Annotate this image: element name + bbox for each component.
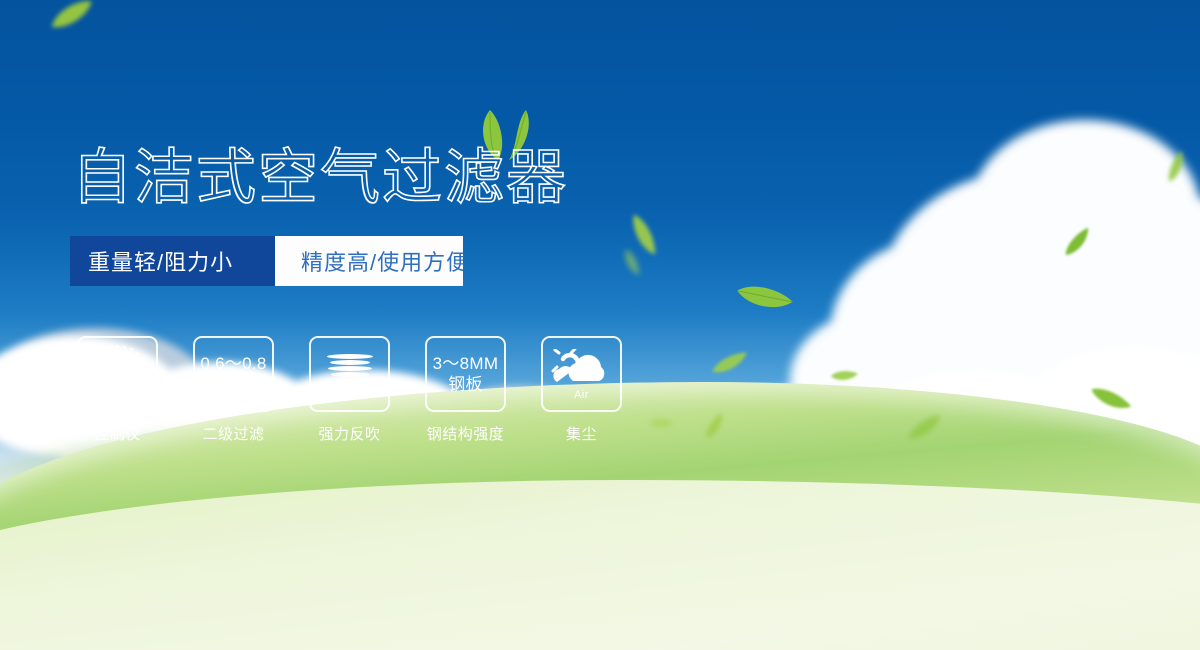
cloud-air-icon: Air	[551, 349, 613, 399]
product-banner: 自洁式空气过滤器 重量轻/阻力小 精度高/使用方便	[0, 0, 1200, 650]
feature-icon-box: 3～8MM 钢板	[425, 336, 506, 412]
feature-item-blowback[interactable]: 强力反吹	[302, 336, 397, 444]
steel-thickness-text: 3～8MM	[433, 353, 499, 374]
steel-material-text: 钢板	[448, 374, 483, 395]
feature-label: 二级过滤	[202, 423, 264, 444]
feature-icon-box: 0.6～0.8 MPA	[193, 336, 274, 412]
feature-icon-box	[309, 336, 390, 412]
gauge-label-off: OFF	[136, 389, 150, 402]
gauge-label-no: NO	[85, 367, 95, 378]
feature-icon-box: NO OFF	[77, 336, 158, 412]
feature-list: NO OFF 控制仪 0.6～0.8 MPA 二级过滤	[70, 336, 629, 444]
tagline-left: 重量轻/阻力小	[70, 236, 275, 286]
tagline-right: 精度高/使用方便	[275, 236, 463, 286]
banner-content: 自洁式空气过滤器 重量轻/阻力小 精度高/使用方便	[0, 0, 1200, 650]
feature-icon-box: Air	[541, 336, 622, 412]
pressure-unit-text: MPA	[215, 374, 251, 395]
tagline-left-text: 重量轻/阻力小	[88, 245, 233, 277]
page-title: 自洁式空气过滤器	[72, 143, 568, 213]
tagline-right-text: 精度高/使用方便	[301, 245, 463, 277]
tagline-badge: 重量轻/阻力小 精度高/使用方便	[70, 236, 463, 286]
feature-label: 集尘	[566, 423, 597, 444]
air-label: Air	[551, 389, 613, 401]
feature-item-steel[interactable]: 3～8MM 钢板 钢结构强度	[418, 336, 513, 444]
feature-item-controller[interactable]: NO OFF 控制仪	[70, 336, 165, 444]
gauge-needle	[113, 354, 122, 394]
feature-label: 钢结构强度	[427, 423, 505, 444]
gauge-icon: NO OFF	[87, 345, 149, 403]
feature-item-dust-collection[interactable]: Air 集尘	[534, 336, 629, 444]
feature-label: 控制仪	[94, 423, 141, 444]
pressure-value-text: 0.6～0.8	[200, 353, 266, 374]
feature-label: 强力反吹	[318, 423, 380, 444]
filter-coil-icon	[321, 346, 379, 402]
feature-item-filtration[interactable]: 0.6～0.8 MPA 二级过滤	[186, 336, 281, 444]
